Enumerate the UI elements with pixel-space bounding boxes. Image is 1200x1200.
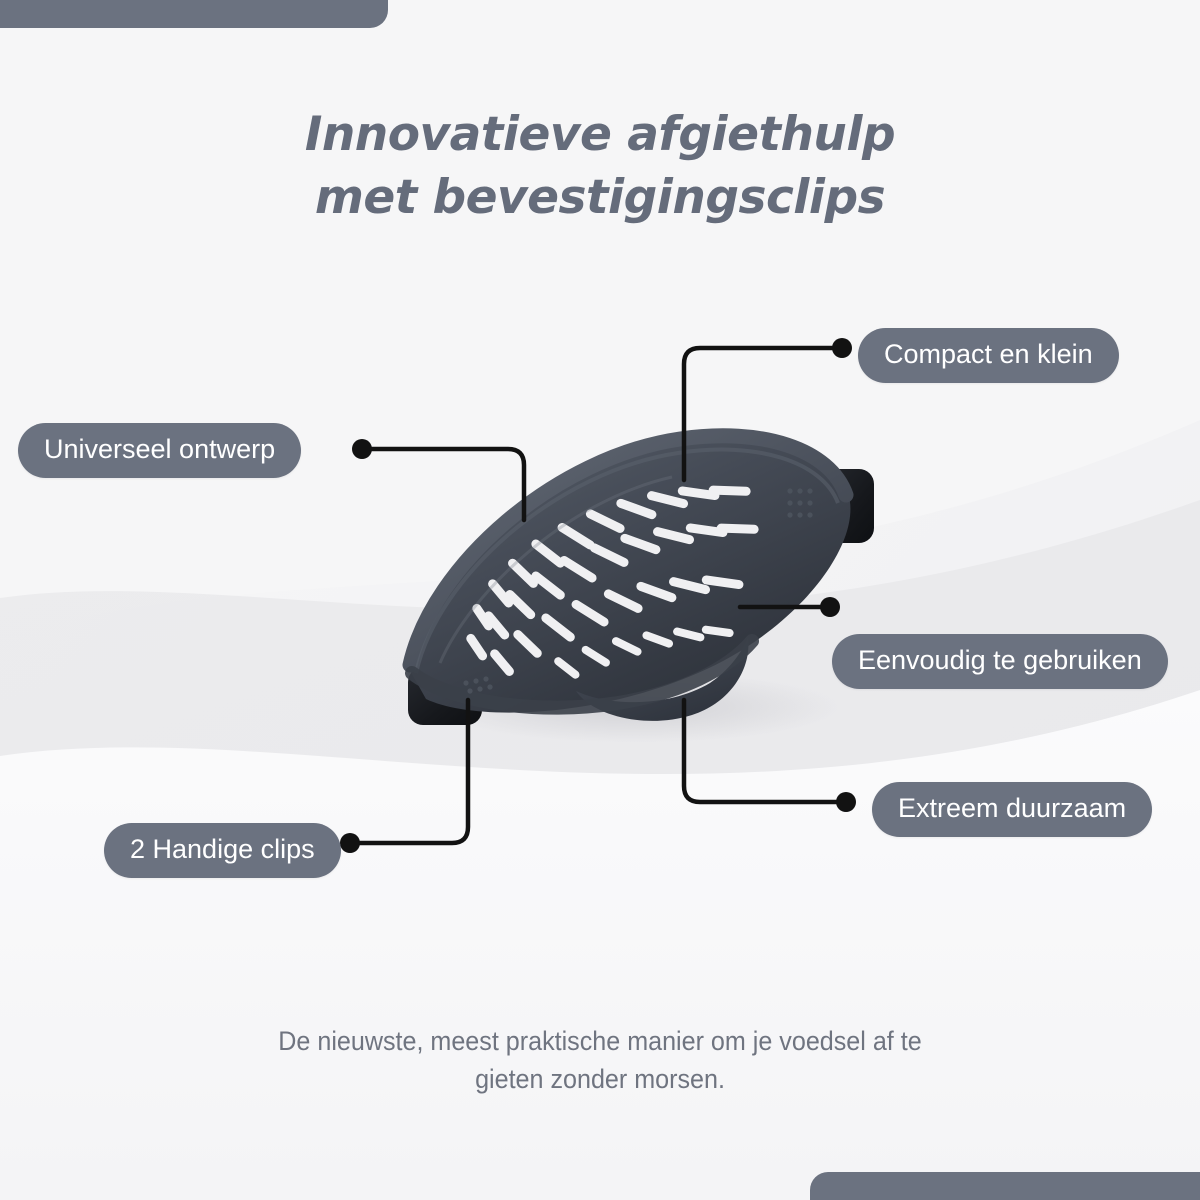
feature-label: Compact en klein bbox=[884, 339, 1093, 369]
feature-label: Eenvoudig te gebruiken bbox=[858, 645, 1142, 675]
feature-pill-extreem-duurzaam[interactable]: Extreem duurzaam bbox=[872, 782, 1152, 837]
decoration-bar-top-left bbox=[0, 0, 388, 28]
feature-label: Universeel ontwerp bbox=[44, 434, 275, 464]
caption-line-1: De nieuwste, meest praktische manier om … bbox=[278, 1026, 921, 1056]
caption-line-2: gieten zonder morsen. bbox=[200, 1060, 1000, 1098]
strainer-body bbox=[408, 434, 850, 713]
title-line-1: Innovatieve afgiethulp bbox=[305, 107, 895, 162]
product-image-clip-on-strainer bbox=[380, 415, 880, 755]
feature-label: 2 Handige clips bbox=[130, 834, 315, 864]
feature-label: Extreem duurzaam bbox=[898, 793, 1126, 823]
page-title: Innovatieve afgiethulp met bevestigingsc… bbox=[0, 104, 1200, 229]
footer-caption: De nieuwste, meest praktische manier om … bbox=[200, 1022, 1000, 1099]
feature-pill-2-handige-clips[interactable]: 2 Handige clips bbox=[104, 823, 341, 878]
title-line-2: met bevestigingsclips bbox=[0, 167, 1200, 230]
infographic-canvas: Innovatieve afgiethulp met bevestigingsc… bbox=[0, 0, 1200, 1200]
feature-pill-compact-en-klein[interactable]: Compact en klein bbox=[858, 328, 1119, 383]
feature-pill-universeel-ontwerp[interactable]: Universeel ontwerp bbox=[18, 423, 301, 478]
decoration-bar-bottom-right bbox=[810, 1172, 1200, 1200]
feature-pill-eenvoudig-te-gebruiken[interactable]: Eenvoudig te gebruiken bbox=[832, 634, 1168, 689]
